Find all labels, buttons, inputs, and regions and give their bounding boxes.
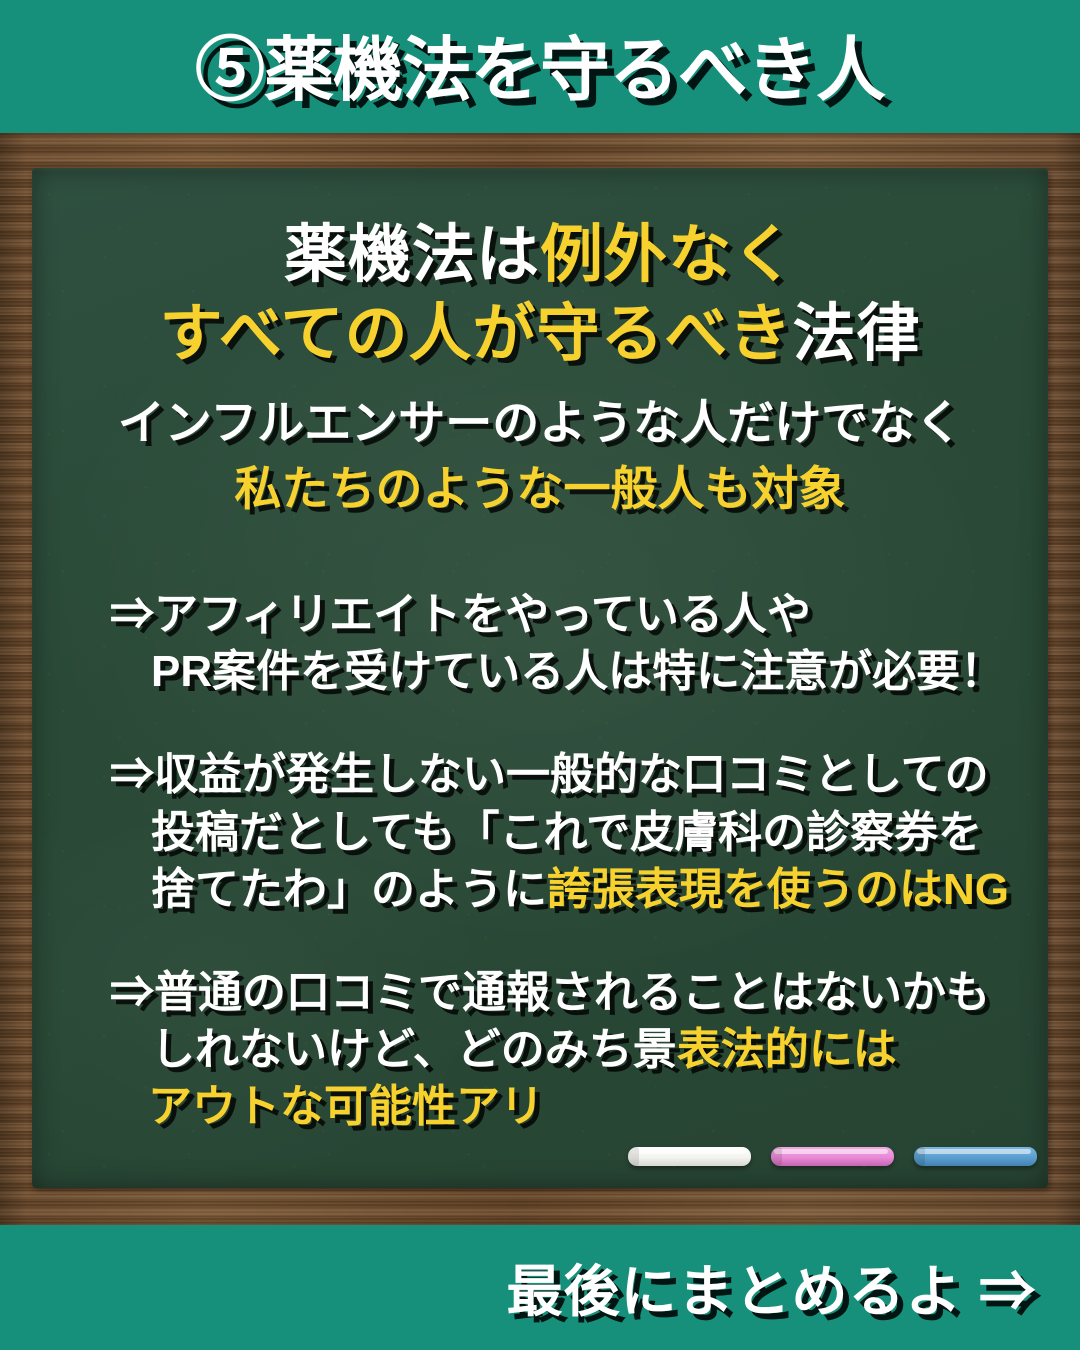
headline-line-2-white: 法律 xyxy=(793,299,921,369)
bullet-line: 投稿だとしても「これで皮膚科の診察券を xyxy=(110,804,1040,861)
headline-line-2-yellow: すべての人が守るべき xyxy=(159,299,792,369)
subheadline-line-1-text: インフルエンサーのような人だけでなく xyxy=(118,396,963,449)
bullet-text-accent: アウトな可能性アリ xyxy=(148,1082,544,1131)
bullet-line: しれないけど、どのみち景表法的には xyxy=(110,1021,1040,1078)
bullet-text-accent: 表法的には xyxy=(677,1025,897,1074)
bullet-text: ⇒普通の口コミで通報されることはないかも xyxy=(110,968,990,1017)
bullet-text: ⇒アフィリエイトをやっている人や xyxy=(110,590,811,639)
chalk-tray xyxy=(628,1143,1038,1169)
chalkboard: 薬機法は例外なく すべての人が守るべき法律 インフルエンサーのような人だけでなく… xyxy=(32,168,1048,1188)
subheadline-line-1: インフルエンサーのような人だけでなく xyxy=(32,390,1048,456)
next-page-cta: 最後にまとめるよ ⇒ xyxy=(506,1247,1080,1328)
bullet-item: ⇒収益が発生しない一般的な口コミとしての 投稿だとしても「これで皮膚科の診察券を… xyxy=(110,746,1040,918)
header-band: ⑤薬機法を守るべき人 xyxy=(0,0,1080,133)
headline-line-1: 薬機法は例外なく xyxy=(32,216,1048,295)
bullet-line: ⇒普通の口コミで通報されることはないかも xyxy=(110,964,1040,1021)
page-title: ⑤薬機法を守るべき人 xyxy=(195,14,885,115)
headline-block: 薬機法は例外なく すべての人が守るべき法律 xyxy=(32,216,1048,375)
bullet-item: ⇒アフィリエイトをやっている人や PR案件を受けている人は特に注意が必要！ xyxy=(110,586,1040,700)
subheadline-block: インフルエンサーのような人だけでなく 私たちのような一般人も対象 xyxy=(32,390,1048,522)
bullet-text: PR案件を受けている人は特に注意が必要！ xyxy=(151,647,1004,696)
bullet-line: ⇒アフィリエイトをやっている人や xyxy=(110,586,1040,643)
bullet-text: 捨てたわ」のように xyxy=(151,865,547,914)
headline-line-2: すべての人が守るべき法律 xyxy=(32,295,1048,374)
chalk-pink-icon xyxy=(771,1147,894,1166)
bullet-line: ⇒収益が発生しない一般的な口コミとしての xyxy=(110,746,1040,803)
bullet-line: アウトな可能性アリ xyxy=(110,1078,1040,1135)
bullet-item: ⇒普通の口コミで通報されることはないかも しれないけど、どのみち景表法的には ア… xyxy=(110,964,1040,1136)
chalk-blue-icon xyxy=(914,1147,1037,1166)
headline-line-1-white: 薬機法は xyxy=(284,220,540,290)
subheadline-line-2-text: 私たちのような一般人も対象 xyxy=(235,462,846,515)
bullet-text: ⇒収益が発生しない一般的な口コミとしての xyxy=(110,750,989,799)
bullet-text: しれないけど、どのみち景 xyxy=(151,1025,677,1074)
wooden-frame: 薬機法は例外なく すべての人が守るべき法律 インフルエンサーのような人だけでなく… xyxy=(0,133,1080,1225)
subheadline-line-2: 私たちのような一般人も対象 xyxy=(32,456,1048,522)
bullet-text-accent: 誇張表現を使うのはNG xyxy=(547,865,1009,914)
bullet-line: 捨てたわ」のように誇張表現を使うのはNG xyxy=(110,861,1040,918)
headline-line-1-yellow: 例外なく xyxy=(540,220,796,290)
bullet-list: ⇒アフィリエイトをやっている人や PR案件を受けている人は特に注意が必要！ ⇒収… xyxy=(110,586,1040,1136)
chalk-white-icon xyxy=(628,1147,751,1166)
bullet-text: 投稿だとしても「これで皮膚科の診察券を xyxy=(151,808,982,857)
slide-root: ⑤薬機法を守るべき人 薬機法は例外なく すべての人が守るべき法律 インフルエンサ… xyxy=(0,0,1080,1350)
footer-band: 最後にまとめるよ ⇒ xyxy=(0,1225,1080,1350)
bullet-line: PR案件を受けている人は特に注意が必要！ xyxy=(110,643,1040,700)
